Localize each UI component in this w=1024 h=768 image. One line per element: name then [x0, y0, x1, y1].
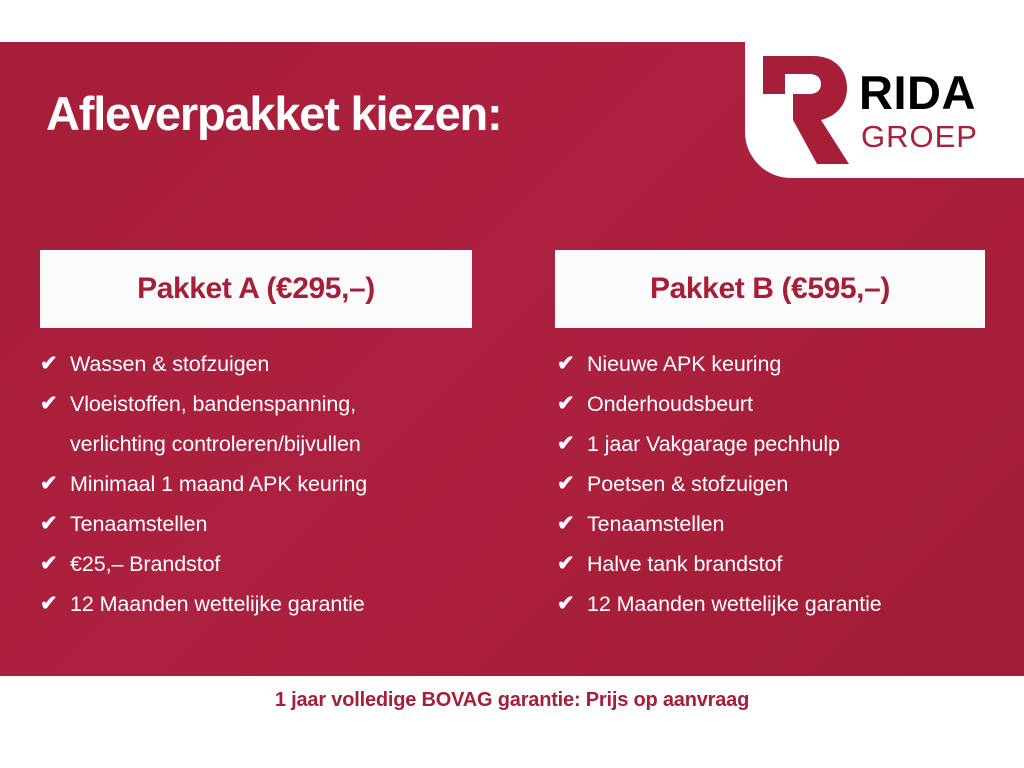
- list-item: ✔ Tenaamstellen: [557, 504, 1007, 544]
- list-item-label: Tenaamstellen: [587, 504, 1007, 544]
- check-icon: ✔: [40, 384, 70, 424]
- list-item: ✔ 12 Maanden wettelijke garantie: [557, 584, 1007, 624]
- list-item: ✔ Nieuwe APK keuring: [557, 344, 1007, 384]
- page-title: Afleverpakket kiezen:: [46, 86, 501, 141]
- check-icon: ✔: [557, 504, 587, 544]
- footer-bar: 1 jaar volledige BOVAG garantie: Prijs o…: [0, 676, 1024, 768]
- check-icon: ✔: [557, 424, 587, 464]
- list-item-label: €25,– Brandstof: [70, 544, 510, 584]
- check-icon: ✔: [557, 584, 587, 624]
- list-item-label: Nieuwe APK keuring: [587, 344, 1007, 384]
- brand-subname: GROEP: [861, 121, 978, 152]
- package-b-title: Pakket B (€595,–): [650, 272, 890, 306]
- check-icon: ✔: [40, 544, 70, 584]
- list-item: ✔ Tenaamstellen: [40, 504, 510, 544]
- package-b-feature-list: ✔ Nieuwe APK keuring ✔ Onderhoudsbeurt ✔…: [557, 344, 1007, 624]
- list-item-label: 12 Maanden wettelijke garantie: [587, 584, 1007, 624]
- check-icon: ✔: [557, 384, 587, 424]
- list-item: ✔ Halve tank brandstof: [557, 544, 1007, 584]
- package-a-header-card[interactable]: Pakket A (€295,–): [40, 250, 472, 328]
- list-item: ✔ 1 jaar Vakgarage pechhulp: [557, 424, 1007, 464]
- list-item: ✔ Minimaal 1 maand APK keuring: [40, 464, 510, 504]
- brand-logo: RIDA GROEP: [745, 42, 1024, 178]
- list-item-label: Tenaamstellen: [70, 504, 510, 544]
- check-icon: ✔: [40, 344, 70, 384]
- red-background-panel: Afleverpakket kiezen: RIDA GROEP Pakket …: [0, 42, 1024, 676]
- check-icon: ✔: [40, 584, 70, 624]
- list-item-label: Onderhoudsbeurt: [587, 384, 1007, 424]
- list-item: ✔ 12 Maanden wettelijke garantie: [40, 584, 510, 624]
- check-icon: ✔: [557, 344, 587, 384]
- brand-name: RIDA: [859, 69, 978, 116]
- brand-logo-wordmark: RIDA GROEP: [859, 69, 978, 152]
- package-a-title: Pakket A (€295,–): [137, 272, 375, 306]
- package-a-feature-list: ✔ Wassen & stofzuigen ✔ Vloeistoffen, ba…: [40, 344, 510, 624]
- check-icon: ✔: [557, 544, 587, 584]
- list-item: ✔ Wassen & stofzuigen: [40, 344, 510, 384]
- list-item: ✔ Vloeistoffen, bandenspanning, verlicht…: [40, 384, 510, 464]
- list-item-label: Wassen & stofzuigen: [70, 344, 510, 384]
- list-item: ✔ Poetsen & stofzuigen: [557, 464, 1007, 504]
- list-item-label: Halve tank brandstof: [587, 544, 1007, 584]
- check-icon: ✔: [40, 504, 70, 544]
- list-item: ✔ Onderhoudsbeurt: [557, 384, 1007, 424]
- stylized-r-icon: [755, 50, 851, 166]
- list-item-label: 12 Maanden wettelijke garantie: [70, 584, 510, 624]
- package-b-header-card[interactable]: Pakket B (€595,–): [555, 250, 985, 328]
- brand-logo-plate: RIDA GROEP: [745, 42, 1024, 178]
- list-item: ✔ €25,– Brandstof: [40, 544, 510, 584]
- list-item-label: Vloeistoffen, bandenspanning, verlichtin…: [70, 384, 510, 464]
- list-item-label: Poetsen & stofzuigen: [587, 464, 1007, 504]
- slide-root: Afleverpakket kiezen: RIDA GROEP Pakket …: [0, 0, 1024, 768]
- list-item-label: 1 jaar Vakgarage pechhulp: [587, 424, 1007, 464]
- list-item-label: Minimaal 1 maand APK keuring: [70, 464, 510, 504]
- footer-note: 1 jaar volledige BOVAG garantie: Prijs o…: [0, 689, 1024, 712]
- check-icon: ✔: [557, 464, 587, 504]
- check-icon: ✔: [40, 464, 70, 504]
